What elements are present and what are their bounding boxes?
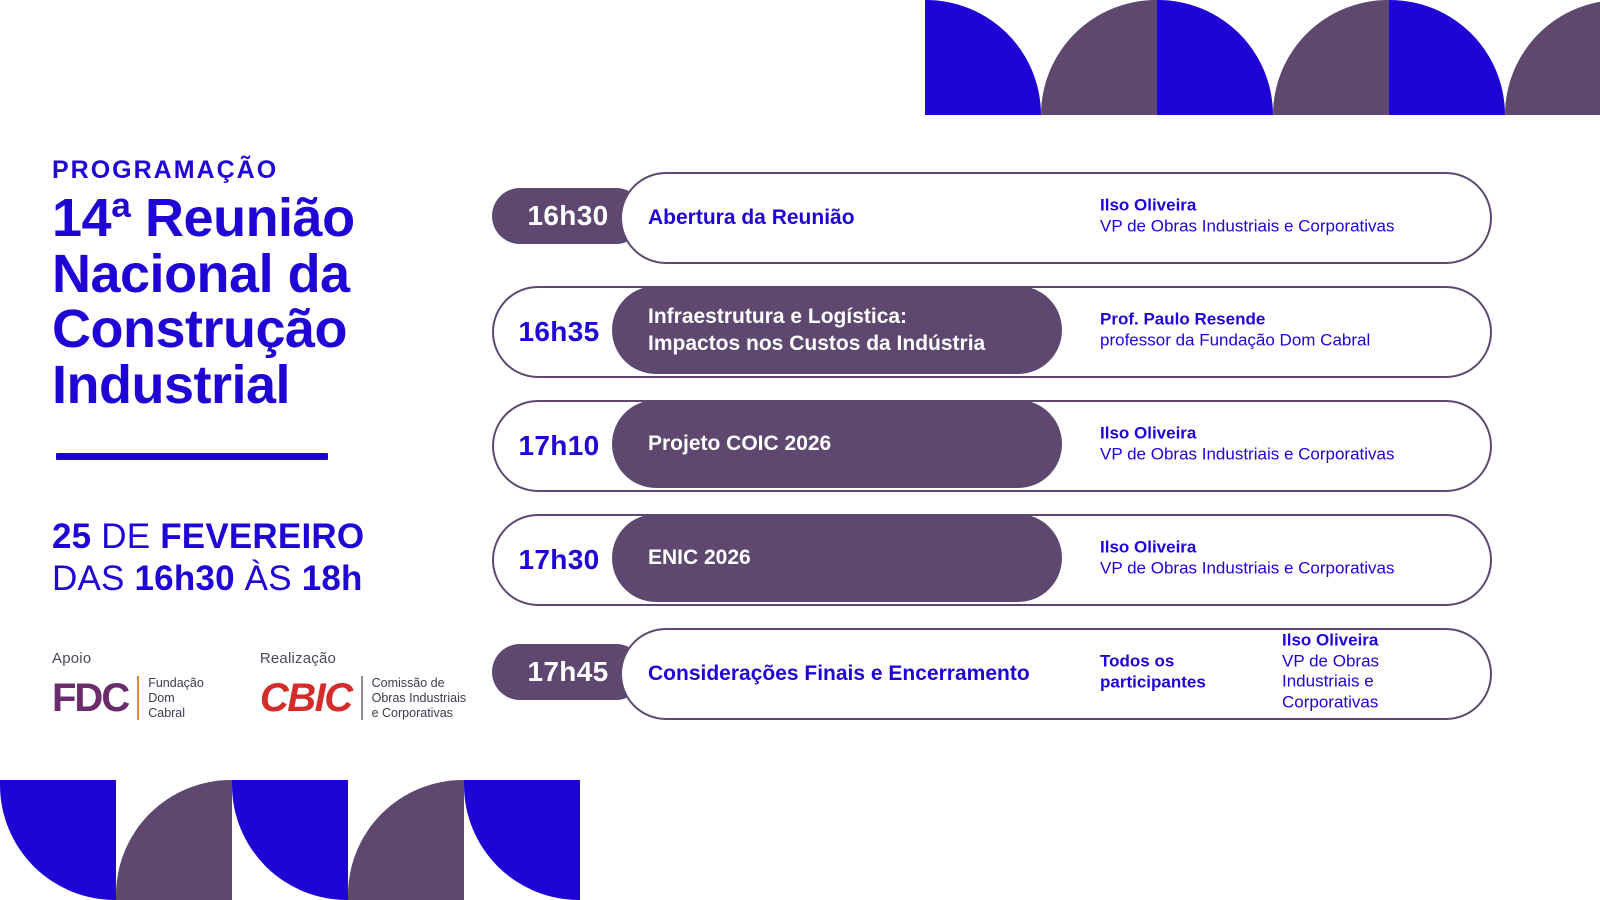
page-title: 14ª Reunião Nacional da Construção Indus… (52, 191, 392, 413)
fdc-logo-subtitle: Fundação Dom Cabral (148, 676, 204, 720)
petal-shape-blue-bl (0, 780, 116, 900)
speaker-name: Prof. Paulo Resende (1100, 309, 1370, 330)
programacao-eyebrow: PROGRAMAÇÃO (52, 158, 472, 183)
session-title: Considerações Finais e Encerramento (648, 660, 1030, 687)
speaker-role: VP de Obras Industriais e Corporativas (1100, 216, 1395, 237)
cbic-logo-subtitle: Comissão de Obras Industriais e Corporat… (372, 676, 466, 720)
time-end: 18h (302, 559, 363, 598)
logos-row: Apoio FDC Fundação Dom Cabral Realização… (52, 650, 466, 720)
petal-shape-purple-tl (1505, 0, 1600, 115)
session-speaker: Prof. Paulo Resendeprofessor da Fundação… (1100, 309, 1370, 350)
schedule-row[interactable]: 16h30Abertura da ReuniãoIlso OliveiraVP … (492, 172, 1492, 260)
event-date-line: 25 DE FEVEREIRO (52, 516, 472, 557)
logo-separator (137, 676, 139, 720)
time-start: 16h30 (135, 559, 235, 598)
support-caption: Apoio (52, 650, 204, 667)
speaker-name: Ilso Oliveira (1100, 423, 1395, 444)
time-connector: ÀS (235, 559, 302, 598)
session-speaker: Todos os participantes (1100, 651, 1206, 692)
schedule-list: 16h30Abertura da ReuniãoIlso OliveiraVP … (492, 172, 1492, 716)
petal-shape-purple-tl (1041, 0, 1157, 115)
speaker-name: Ilso Oliveira (1100, 537, 1395, 558)
fdc-logo: FDC Fundação Dom Cabral (52, 676, 204, 720)
date-day: 25 (52, 517, 91, 556)
petal-shape-blue-tr (925, 0, 1041, 115)
session-title-capsule: Projeto COIC 2026 (612, 400, 1062, 488)
session-speaker: Ilso OliveiraVP de Obras Industriais e C… (1282, 631, 1379, 714)
petal-shape-purple-tl (348, 780, 464, 900)
title-divider (56, 453, 328, 460)
date-month: FEVEREIRO (160, 517, 364, 556)
petal-shape-purple-tl (1273, 0, 1389, 115)
session-time-label: 17h10 (494, 430, 624, 462)
support-logo-group: Apoio FDC Fundação Dom Cabral (52, 650, 204, 720)
event-time-line: DAS 16h30 ÀS 18h (52, 558, 472, 599)
cbic-logo: CBIC Comissão de Obras Industriais e Cor… (260, 676, 466, 720)
speaker-name: Ilso Oliveira (1100, 195, 1395, 216)
schedule-row[interactable]: 17h45Considerações Finais e Encerramento… (492, 628, 1492, 716)
speaker-role: VP de Obras Industriais e Corporativas (1282, 651, 1379, 713)
petal-shape-blue-tr (1157, 0, 1273, 115)
fdc-wordmark-icon: FDC (52, 678, 128, 718)
speaker-role: professor da Fundação Dom Cabral (1100, 330, 1370, 351)
schedule-row[interactable]: 17h10Projeto COIC 2026Ilso OliveiraVP de… (492, 400, 1492, 488)
event-date-block: 25 DE FEVEREIRO DAS 16h30 ÀS 18h (52, 516, 472, 599)
session-title-capsule: Infraestrutura e Logística: Impactos nos… (612, 286, 1062, 374)
speaker-role: VP de Obras Industriais e Corporativas (1100, 558, 1395, 579)
date-connector: DE (91, 517, 160, 556)
speaker-role: VP de Obras Industriais e Corporativas (1100, 444, 1395, 465)
logo-separator (361, 676, 363, 720)
event-info-column: PROGRAMAÇÃO 14ª Reunião Nacional da Cons… (52, 158, 472, 599)
session-title: ENIC 2026 (648, 544, 751, 571)
schedule-row[interactable]: 16h35Infraestrutura e Logística: Impacto… (492, 286, 1492, 374)
organizer-logo-group: Realização CBIC Comissão de Obras Indust… (260, 650, 466, 720)
petal-shape-blue-bl (464, 780, 580, 900)
top-decorative-pattern (925, 0, 1600, 115)
session-title-capsule: ENIC 2026 (612, 514, 1062, 602)
time-prefix: DAS (52, 559, 135, 598)
speaker-name: Ilso Oliveira (1282, 631, 1379, 652)
bottom-decorative-pattern (0, 780, 580, 900)
session-speaker: Ilso OliveiraVP de Obras Industriais e C… (1100, 537, 1395, 578)
session-time-label: 16h35 (494, 316, 624, 348)
schedule-row[interactable]: 17h30ENIC 2026Ilso OliveiraVP de Obras I… (492, 514, 1492, 602)
session-time-label: 17h30 (494, 544, 624, 576)
organizer-caption: Realização (260, 650, 466, 667)
petal-shape-blue-bl (232, 780, 348, 900)
speaker-name: Todos os participantes (1100, 651, 1206, 692)
session-title: Projeto COIC 2026 (648, 430, 831, 457)
cbic-wordmark-icon: CBIC (260, 678, 352, 718)
poster-canvas: PROGRAMAÇÃO 14ª Reunião Nacional da Cons… (0, 0, 1600, 900)
session-speaker: Ilso OliveiraVP de Obras Industriais e C… (1100, 195, 1395, 236)
petal-shape-purple-tl (116, 780, 232, 900)
session-title: Abertura da Reunião (648, 204, 855, 231)
session-title: Infraestrutura e Logística: Impactos nos… (648, 303, 985, 358)
petal-shape-blue-tr (1389, 0, 1505, 115)
session-speaker: Ilso OliveiraVP de Obras Industriais e C… (1100, 423, 1395, 464)
